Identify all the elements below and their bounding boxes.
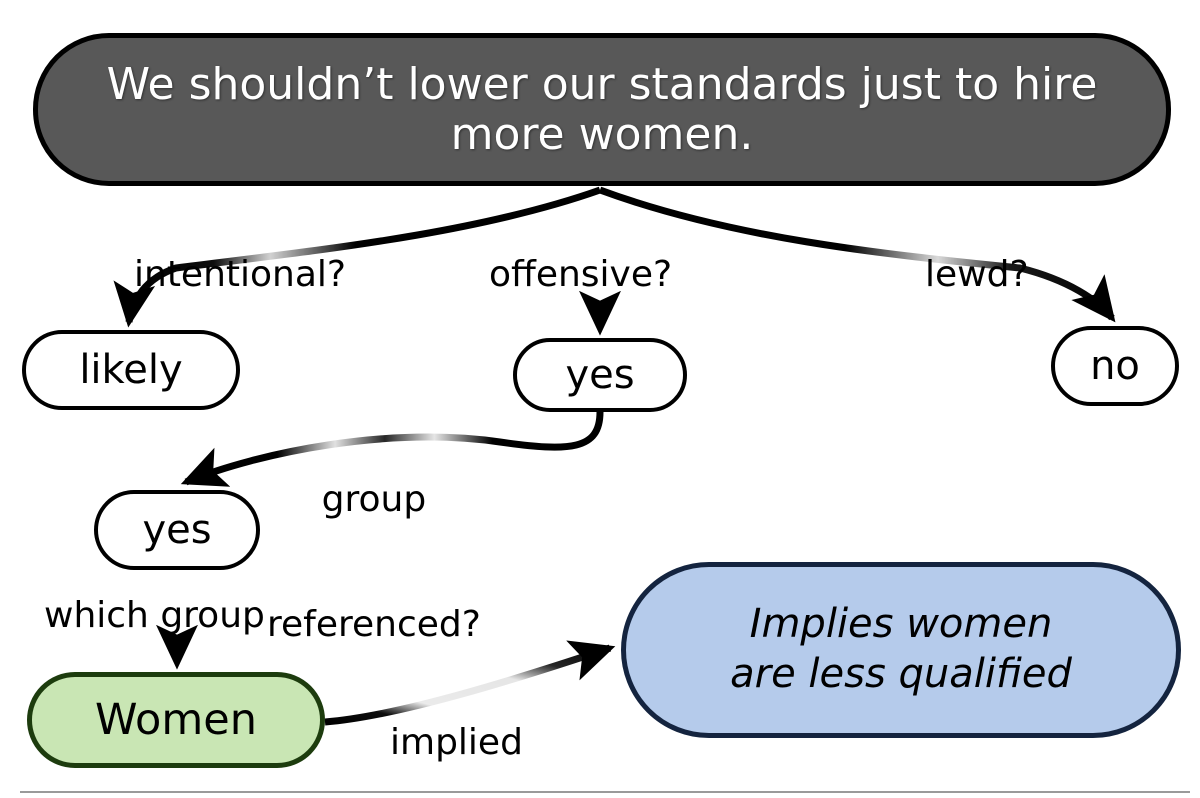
node-implication-text: Implies women are less qualified <box>730 600 1072 699</box>
node-implication-line1: Implies women <box>750 601 1053 647</box>
edge-label-which-group: which group <box>44 595 265 637</box>
edge-root-to-no <box>600 190 1112 318</box>
bottom-divider <box>20 791 1190 793</box>
node-no-lewd[interactable]: no <box>1051 326 1179 406</box>
node-yes-offensive[interactable]: yes <box>513 338 687 412</box>
edge-label-intentional: intentional? <box>134 254 346 296</box>
edge-label-lewd: lewd? <box>925 254 1029 296</box>
node-women-group[interactable]: Women <box>27 672 325 768</box>
edge-label-implied-statement-line1: implied <box>390 722 540 764</box>
edge-label-offensive: offensive? <box>489 254 672 296</box>
edge-label-group-referenced-line1: group <box>267 479 481 521</box>
node-likely[interactable]: likely <box>22 330 240 410</box>
diagram-canvas: intentional? offensive? lewd? group refe… <box>0 0 1200 798</box>
node-implication[interactable]: Implies women are less qualified <box>621 562 1181 738</box>
node-yes-group-referenced[interactable]: yes <box>94 490 260 570</box>
edge-label-implied-statement: implied statement <box>355 638 540 798</box>
node-implication-line2: are less qualified <box>730 651 1072 697</box>
node-root-statement[interactable]: We shouldn’t lower our standards just to… <box>33 33 1171 186</box>
